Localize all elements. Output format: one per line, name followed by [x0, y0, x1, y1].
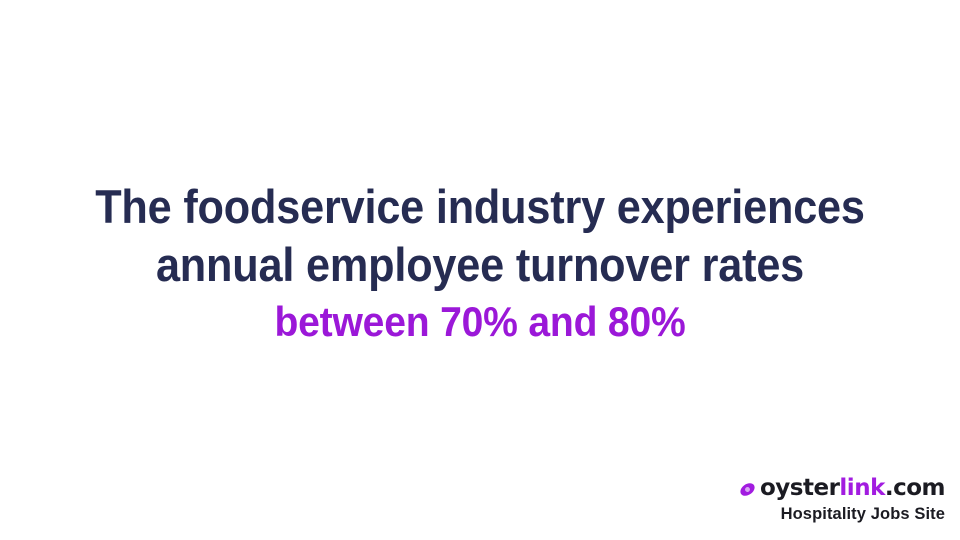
headline-block: The foodservice industry experiences ann… [0, 178, 960, 349]
logo-wordmark-com: .com [885, 475, 945, 501]
headline-line-1: The foodservice industry experiences [75, 178, 885, 236]
headline-line-2: annual employee turnover rates [75, 236, 885, 294]
slide-canvas: The foodservice industry experiences ann… [0, 0, 960, 540]
headline-line-3-highlight: between 70% and 80% [71, 295, 889, 349]
logo-wordmark: oysterlink.com [760, 477, 945, 500]
logo-wordmark-row: oysterlink.com [739, 477, 945, 500]
logo-tagline: Hospitality Jobs Site [739, 506, 945, 523]
logo-wordmark-link: link [839, 475, 884, 501]
logo-wordmark-oyster: oyster [760, 475, 839, 501]
oyster-pearl-icon [739, 481, 756, 498]
oysterlink-logo[interactable]: oysterlink.com Hospitality Jobs Site [739, 477, 945, 523]
